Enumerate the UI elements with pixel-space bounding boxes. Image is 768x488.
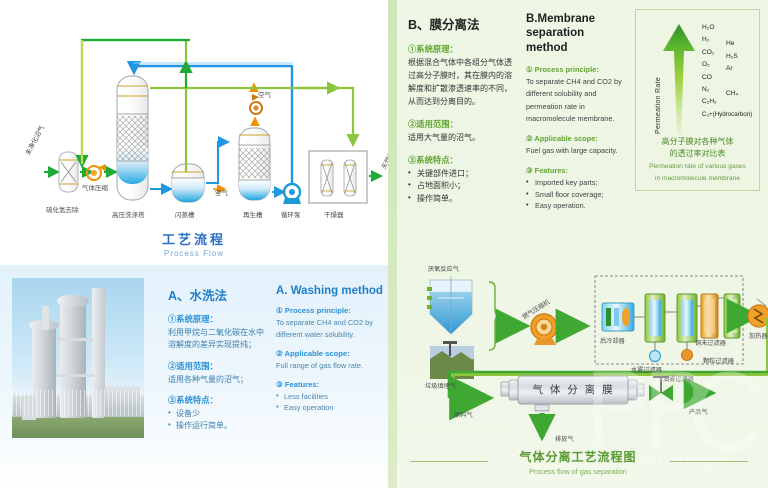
label-product-gas: 产品气 [689,407,708,416]
washing-en-s1-body: To separate CH4 and CO2 by different wat… [276,317,384,341]
gas-separation-title: 气体分离工艺流程图 Process flow of gas separation [388,448,768,476]
washing-cn-s1-body: 利用甲烷与二氧化碳在水中溶解度的差异实现提纯； [168,327,264,352]
particle-filter-icon [724,294,740,338]
heater-icon [748,299,768,327]
right-half: B、膜分离法 ①系统原理： 根据混合气体中各组分气体透过高分子膜时，其在膜内的溶… [388,0,768,488]
membrane-cn-s3-title: ③系统特点： [408,154,516,166]
washing-cn-s2-body: 适用各种气量的沼气； [168,374,264,386]
gas-row: C₂H₂ [702,98,758,110]
gas-row: H₂He [702,36,758,48]
membrane-cn-s1-body: 根据混合气体中各组分气体透过高分子膜时，其在膜内的溶解度和扩散渗透速率的不同，从… [408,57,516,109]
washing-en-s3-title: ③ Features: [276,380,384,389]
label-air-out: 空气 [258,89,271,99]
label-water-mist-filter: 水雾过滤器 [631,365,662,374]
label-vent-gas: 排放气 [555,434,574,443]
permeation-caption-en-2: in macromolecule membrane [640,174,755,183]
gas-right: Ar [726,65,733,72]
aftercooler-icon [602,303,634,331]
gas-row: H₂O [702,24,758,36]
permeation-caption-cn-1: 高分子膜对各种气体 [640,136,755,148]
membrane-en-feature: Imported key parts; [526,177,626,188]
gas-right: He [726,40,734,47]
permeation-gas-list: H₂O H₂He CO₂H₂S O₂Ar CO N₂CH₄ C₂H₂ C₃+(H… [702,24,758,123]
gas-row: C₃+(Hydrocarbon) [702,111,758,123]
washing-en-s2-title: ② Applicable scope: [276,349,384,358]
label-h2s-removal: 硫化氢去除 [46,204,79,214]
washing-cn-s3-title: ③系统特点： [168,394,264,406]
gas-separation-title-cn: 气体分离工艺流程图 [388,448,768,465]
gas-compressor-icon [531,314,567,345]
label-membrane-module: 气 体 分 离 膜 [522,382,625,397]
process-flow-title: 工艺流程 Process Flow [0,229,388,258]
washing-heading-cn: A、水洗法 [168,285,264,304]
membrane-cn-feature: 关键部件进口； [408,168,516,180]
gas-separation-title-en: Process flow of gas separation [388,467,768,476]
membrane-en-s3-title: ③ Features: [526,166,626,175]
gas-row: CO₂H₂S [702,49,758,61]
label-feed-gas: 原料气 [454,410,473,419]
membrane-cn-feature: 操作简单。 [408,193,516,205]
washing-cn-feature: 操作运行简单。 [168,420,264,432]
poster-page: 未净化沼气 硫化氢去除 气体压缩 高压洗涤塔 闪蒸槽 空气 空气 再生槽 循环泵… [0,0,768,488]
washing-cn-s1-title: ①系统原理： [168,313,264,325]
washing-en-feature: Less facilities [276,391,384,402]
membrane-en-s2-title: ② Applicable scope: [526,134,626,143]
label-flash-tank: 闪蒸槽 [175,209,195,219]
label-dryer: 干燥器 [324,209,344,219]
gas-row: N₂CH₄ [702,86,758,98]
washing-en-s1-title: ① Process principle: [276,306,384,315]
label-aftercooler: 后冷却器 [600,336,625,345]
process-flow-title-en: Process Flow [0,249,388,258]
anaerobic-reactor-icon [427,276,472,334]
membrane-en-feature: Easy operation. [526,200,626,211]
washing-cn-feature: 设备少 [168,408,264,420]
gas-right: CH₄ [726,90,738,97]
permeation-axis-text: Permeation Rate [655,77,662,134]
gas-left: N₂ [702,86,709,93]
permeation-caption-en-1: Permeation rate of various gases [640,162,755,171]
label-hp-scrubber: 高压洗涤塔 [112,209,145,219]
permeation-caption: 高分子膜对各种气体 的透过率对比表 Permeation rate of var… [640,136,755,184]
washing-cn-column: A、水洗法 ①系统原理： 利用甲烷与二氧化碳在水中溶解度的差异实现提纯； ②适用… [168,285,264,432]
label-oil-mist-filter: 油雾过滤器 [663,374,694,383]
process-flow-svg [0,0,388,230]
gas-left: CO [702,74,712,81]
washing-plant-photo [12,278,144,438]
gas-left: CO₂ [702,49,714,56]
gas-left: C₃+(Hydrocarbon) [702,111,752,118]
label-particle-filter: 颗粒过滤器 [703,356,734,365]
gas-separation-svg [397,258,768,473]
permeation-axis-label: Permeation Rate [644,28,656,136]
label-regen-tank: 再生槽 [243,209,263,219]
label-anaerobic-gas: 厌氧反应气 [428,264,459,273]
membrane-cn-s2-body: 适用大气量的沼气。 [408,132,516,145]
washing-en-s2-body: Full range of gas flow rate. [276,360,384,372]
label-heater: 加热器 [749,331,768,340]
membrane-heading-cn: B、膜分离法 [408,14,516,33]
permeation-arrow-icon [662,24,696,136]
label-copper-filter: 铜末过滤器 [695,338,726,347]
gas-row: CO [702,74,758,86]
washing-en-feature: Easy operation [276,402,384,413]
oil-mist-filter-icon [677,294,697,361]
copper-powder-filter-icon [701,294,718,338]
membrane-en-s1-title: ① Process principle: [526,65,626,74]
membrane-cn-s1-title: ①系统原理： [408,43,516,55]
water-mist-filter-icon [645,294,665,362]
washing-heading-en: A. Washing method [276,285,384,297]
gas-left: O₂ [702,61,710,68]
label-landfill-gas: 垃圾填埋气 [425,381,456,390]
permeation-rate-chart: Permeation Rate [635,9,760,191]
label-gas-compression: 气体压缩 [82,182,108,192]
gas-row: O₂Ar [702,61,758,73]
membrane-cn-column: B、膜分离法 ①系统原理： 根据混合气体中各组分气体透过高分子膜时，其在膜内的溶… [408,14,516,205]
left-half: 未净化沼气 硫化氢去除 气体压缩 高压洗涤塔 闪蒸槽 空气 空气 再生槽 循环泵… [0,0,388,488]
washing-en-column: A. Washing method ① Process principle: T… [276,285,384,413]
gas-left: C₂H₂ [702,98,717,105]
washing-method-panel: A、水洗法 ①系统原理： 利用甲烷与二氧化碳在水中溶解度的差异实现提纯； ②适用… [0,265,388,488]
membrane-en-s1-body: To separate CH4 and CO2 by different sol… [526,76,626,125]
membrane-en-s2-body: Fuel gas with large capacity. [526,145,626,157]
process-flow-title-cn: 工艺流程 [0,229,388,248]
process-flow-diagram: 未净化沼气 硫化氢去除 气体压缩 高压洗涤塔 闪蒸槽 空气 空气 再生槽 循环泵… [0,0,388,252]
label-air-in: 空气 [215,187,228,197]
membrane-heading-en: B.Membrane separation method [526,12,626,55]
gas-left: H₂O [702,24,714,31]
membrane-en-feature: Small floor coverage; [526,189,626,200]
washing-cn-s2-title: ②适用范围： [168,360,264,372]
membrane-cn-s2-title: ②适用范围： [408,118,516,130]
gas-left: H₂ [702,36,709,43]
gas-right: H₂S [726,53,738,60]
permeation-caption-cn-2: 的透过率对比表 [640,148,755,160]
label-circ-pump: 循环泵 [281,209,301,219]
membrane-cn-feature: 占地面积小； [408,180,516,192]
membrane-en-column: B.Membrane separation method ① Process p… [526,12,626,211]
